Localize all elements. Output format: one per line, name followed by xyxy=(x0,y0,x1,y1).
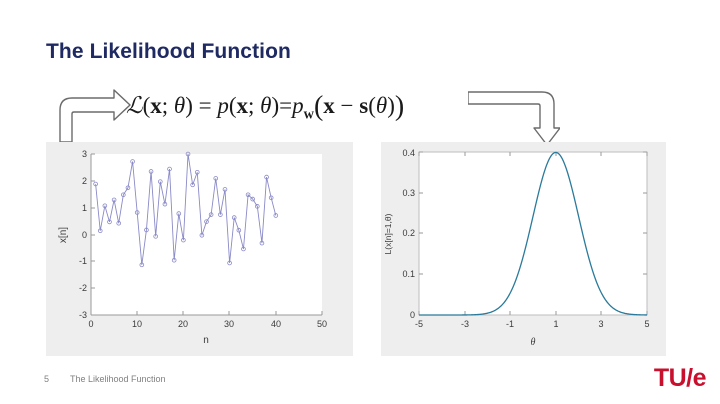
logo-e: e xyxy=(693,364,706,392)
formula-s-vector: s xyxy=(359,93,368,118)
svg-text:3: 3 xyxy=(82,149,87,159)
svg-text:-3: -3 xyxy=(461,319,469,329)
figure-signal-plot: 0 10 20 30 40 50 -3 -2 -1 0 1 2 3 n x[n] xyxy=(46,142,353,356)
svg-text:20: 20 xyxy=(178,319,188,329)
formula-script-l: ℒ xyxy=(126,93,143,119)
svg-text:0.2: 0.2 xyxy=(402,228,415,238)
svg-text:θ: θ xyxy=(531,337,536,348)
page-title: The Likelihood Function xyxy=(46,40,291,64)
formula-theta-args: (θ) xyxy=(368,93,395,118)
formula-x-vector: x xyxy=(323,93,335,118)
slide-canvas: The Likelihood Function ℒ(x; θ) = p(x; θ… xyxy=(0,0,720,404)
formula-p-args: (x; θ) xyxy=(229,93,279,118)
formula-lhs-args: (x; θ) xyxy=(143,93,193,118)
svg-text:5: 5 xyxy=(644,319,649,329)
svg-text:1: 1 xyxy=(553,319,558,329)
formula-pw: p xyxy=(292,93,304,118)
formula-open-paren: ( xyxy=(314,91,323,122)
figure-likelihood-plot: -5 -3 -1 1 3 5 0 0.1 0.2 0.3 0.4 θ L(x[n… xyxy=(381,142,666,356)
bent-arrow-up-right-icon xyxy=(56,88,134,144)
svg-text:0.1: 0.1 xyxy=(402,269,415,279)
likelihood-plot-svg: -5 -3 -1 1 3 5 0 0.1 0.2 0.3 0.4 θ L(x[n… xyxy=(381,142,666,356)
likelihood-formula: ℒ(x; θ) = p(x; θ)=pw(x − s(θ)) xyxy=(126,91,404,123)
bent-arrow-right-down-icon xyxy=(468,88,560,148)
formula-equals-1: = xyxy=(199,93,212,118)
logo-tu: TU xyxy=(654,364,686,392)
formula-close-paren: ) xyxy=(395,91,404,122)
svg-text:0: 0 xyxy=(88,319,93,329)
svg-text:-3: -3 xyxy=(79,310,87,320)
svg-text:0.3: 0.3 xyxy=(402,188,415,198)
svg-text:0: 0 xyxy=(82,230,87,240)
footer-title: The Likelihood Function xyxy=(70,374,166,384)
formula-pw-subscript: w xyxy=(304,106,314,122)
svg-text:10: 10 xyxy=(132,319,142,329)
svg-text:L(x[n]=1,θ): L(x[n]=1,θ) xyxy=(383,213,393,254)
svg-text:50: 50 xyxy=(317,319,327,329)
svg-text:30: 30 xyxy=(224,319,234,329)
formula-row: ℒ(x; θ) = p(x; θ)=pw(x − s(θ)) xyxy=(0,86,720,148)
svg-text:-1: -1 xyxy=(79,256,87,266)
svg-text:2: 2 xyxy=(82,176,87,186)
svg-text:0: 0 xyxy=(410,310,415,320)
formula-p: p xyxy=(217,93,229,118)
formula-minus: − xyxy=(341,93,354,118)
footer-page-number: 5 xyxy=(44,374,49,384)
svg-text:1: 1 xyxy=(82,203,87,213)
svg-text:40: 40 xyxy=(271,319,281,329)
signal-plot-svg: 0 10 20 30 40 50 -3 -2 -1 0 1 2 3 n x[n] xyxy=(46,142,353,356)
svg-text:-2: -2 xyxy=(79,283,87,293)
formula-equals-2: = xyxy=(279,93,292,118)
tue-logo: TU/e xyxy=(654,366,706,391)
svg-text:x[n]: x[n] xyxy=(58,227,69,243)
svg-text:3: 3 xyxy=(598,319,603,329)
svg-text:0.4: 0.4 xyxy=(402,148,415,158)
svg-text:-1: -1 xyxy=(506,319,514,329)
svg-text:-5: -5 xyxy=(415,319,423,329)
svg-text:n: n xyxy=(203,335,209,346)
